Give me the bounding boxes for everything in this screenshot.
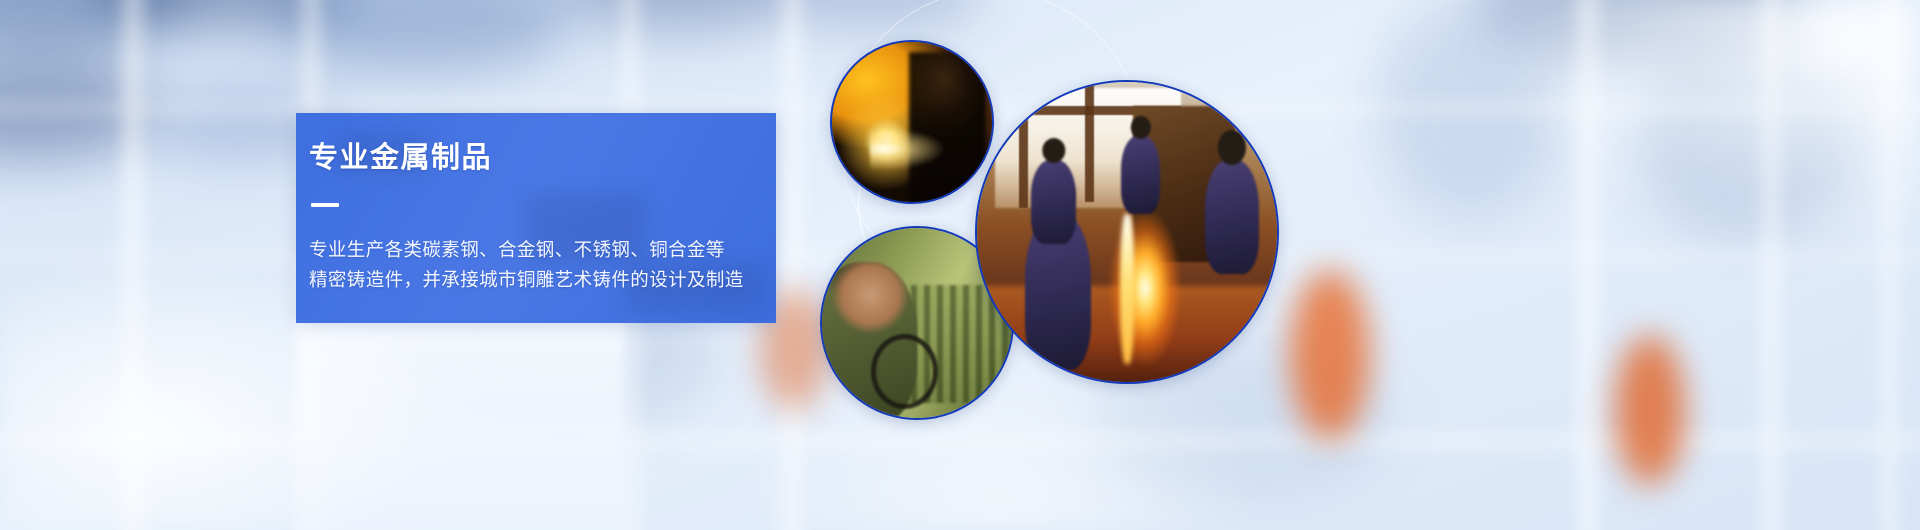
foundry-worker-centre xyxy=(1121,136,1160,214)
description-text: 专业生产各类碳素钢、合金钢、不锈钢、铜合金等 精密铸造件，并承接城市铜雕艺术铸件… xyxy=(309,235,776,295)
foundry-molten-glow xyxy=(1079,202,1211,384)
photo-circle-foundry-pour xyxy=(975,80,1279,384)
photo-circle-welding xyxy=(830,40,994,204)
description-line-1: 专业生产各类碳素钢、合金钢、不锈钢、铜合金等 xyxy=(309,235,776,265)
foundry-worker-right xyxy=(1205,160,1259,274)
foundry-frame-beam-v2 xyxy=(1085,82,1094,202)
inspection-hand-tool xyxy=(871,334,938,409)
page-title: 专业金属制品 xyxy=(309,143,776,175)
headline-card: 专业金属制品 专业生产各类碳素钢、合金钢、不锈钢、铜合金等 精密铸造件，并承接城… xyxy=(296,113,776,323)
foundry-frame-beam-v1 xyxy=(1019,82,1028,208)
welding-scene xyxy=(832,42,992,202)
description-line-2: 精密铸造件，并承接城市铜雕艺术铸件的设计及制造 xyxy=(309,265,776,295)
foundry-molten-stream xyxy=(1120,214,1134,364)
photo-circle-cluster xyxy=(810,0,1550,530)
hero-banner: 专业金属制品 专业生产各类碳素钢、合金钢、不锈钢、铜合金等 精密铸造件，并承接城… xyxy=(0,0,1920,530)
welding-spark-burst xyxy=(870,128,944,170)
welding-operator-silhouette xyxy=(909,52,986,202)
foundry-worker-left xyxy=(1031,160,1076,244)
foundry-pour-scene xyxy=(977,82,1277,382)
title-divider-rule xyxy=(311,203,339,207)
